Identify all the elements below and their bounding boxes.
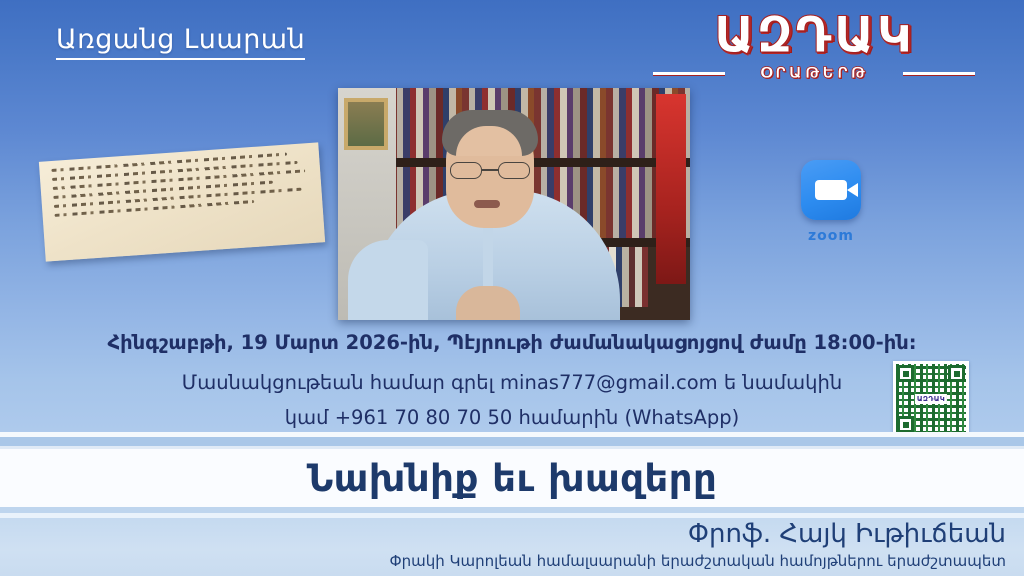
azdak-logo-subtitle: ՕՐԱԹԵՐԹ — [760, 63, 868, 82]
camera-glyph — [815, 180, 847, 200]
qr-finder-top-left — [897, 365, 914, 382]
registration-phone-line: կամ +961 70 80 70 50 համարին (WhatsApp) — [0, 406, 1024, 429]
qr-finder-top-right — [948, 365, 965, 382]
bookshelf-plank — [390, 158, 690, 167]
person-hands — [456, 286, 520, 320]
video-camera-icon — [801, 160, 861, 220]
lens-right — [498, 162, 530, 179]
red-poster — [656, 94, 686, 284]
azdak-logo[interactable]: ԱԶԴԱԿ ՕՐԱԹԵՐԹ — [649, 10, 979, 81]
khaz-manuscript-image — [39, 142, 325, 261]
zoom-branding[interactable]: zoom — [792, 160, 870, 244]
manuscript-line — [53, 181, 273, 199]
lens-bridge — [482, 169, 498, 171]
person-mouth — [474, 200, 500, 208]
lens-left — [450, 162, 482, 179]
speaker-role: Փրակի Կարոլեան համալսարանի երաժշտական հա… — [389, 552, 1006, 570]
azdak-logo-subtitle-row: ՕՐԱԹԵՐԹ — [649, 63, 979, 81]
divider-band-2 — [0, 437, 1024, 446]
qr-finder-bottom-left — [897, 416, 914, 433]
azdak-logo-wordmark: ԱԶԴԱԿ — [649, 10, 979, 60]
framed-painting — [344, 98, 388, 150]
person-arm — [348, 240, 428, 320]
speaker-name: Փրոֆ. Հայկ Իւթիւճեան — [688, 519, 1006, 549]
event-poster: Առցանց Լսարան ԱԶԴԱԿ ՕՐԱԹԵՐԹ — [0, 0, 1024, 576]
logo-rule-left — [653, 72, 725, 75]
eyeglasses-icon — [448, 162, 532, 179]
logo-rule-right — [903, 72, 975, 75]
zoom-label: zoom — [792, 228, 870, 244]
page-title: Առցանց Լսարան — [56, 24, 305, 60]
qr-code[interactable]: ԱԶԴԱԿ — [893, 361, 969, 437]
event-datetime-line: Հինգշաբթի, 19 Մարտ 2026-ին, Պէյրութի ժամ… — [0, 331, 1024, 354]
lecture-title: Նախնիք եւ խազերը — [0, 449, 1024, 507]
registration-email-line: Մասնակցութեան համար գրել minas777@gmail.… — [0, 371, 1024, 394]
qr-center-label: ԱԶԴԱԿ — [915, 394, 947, 404]
speaker-photo — [338, 88, 690, 320]
qr-code-pattern: ԱԶԴԱԿ — [896, 364, 966, 434]
